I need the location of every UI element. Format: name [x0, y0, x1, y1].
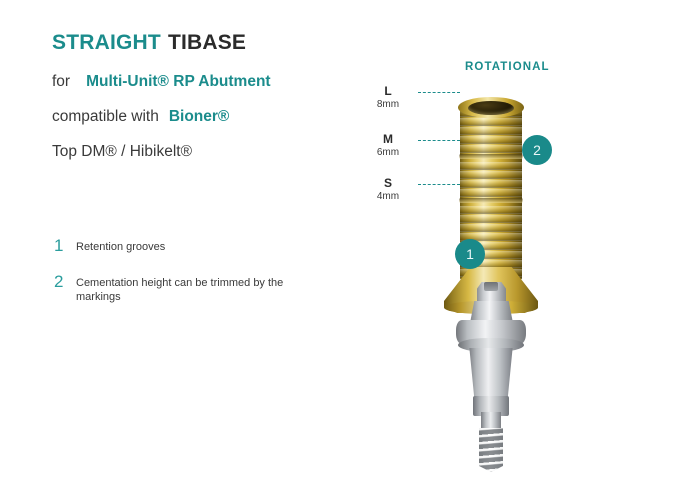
rotational-label: ROTATIONAL — [465, 61, 550, 73]
list-item: 2 Cementation height can be trimmed by t… — [54, 274, 324, 304]
size-letter: L — [370, 84, 406, 98]
product-illustration: ROTATIONAL L 8mm M 6mm S 4mm — [370, 50, 670, 480]
abutment-cone — [468, 348, 514, 400]
compatible-label: compatible with — [52, 108, 159, 125]
page-title: STRAIGHTTIBASE — [52, 28, 382, 58]
legend-text: Cementation height can be trimmed by the… — [76, 274, 324, 304]
legend-number: 1 — [54, 238, 76, 254]
screw-threads — [479, 428, 503, 472]
legend: 1 Retention grooves 2 Cementation height… — [54, 238, 324, 304]
size-letter: S — [370, 176, 406, 190]
size-marker-l: L 8mm — [370, 84, 406, 110]
badge-cementation-height[interactable]: 2 — [522, 135, 552, 165]
legend-number: 2 — [54, 274, 76, 290]
compatible-extra: Top DM® / Hibikelt® — [52, 141, 382, 163]
size-marker-m: M 6mm — [370, 132, 406, 158]
badge-retention-grooves[interactable]: 1 — [455, 239, 485, 269]
screw-slot — [484, 282, 498, 291]
text-block: STRAIGHTTIBASE forMulti-Unit® RP Abutmen… — [52, 28, 382, 163]
size-value: 4mm — [370, 191, 406, 202]
product-sheet: STRAIGHTTIBASE forMulti-Unit® RP Abutmen… — [0, 0, 700, 500]
legend-text: Retention grooves — [76, 238, 165, 254]
gold-bore-opening — [468, 101, 514, 115]
size-dash-line — [418, 92, 460, 93]
list-item: 1 Retention grooves — [54, 238, 324, 254]
size-value: 8mm — [370, 99, 406, 110]
title-straight: STRAIGHT — [52, 31, 161, 54]
size-marker-s: S 4mm — [370, 176, 406, 202]
size-value: 6mm — [370, 147, 406, 158]
compatible-value: Bioner® — [169, 108, 230, 125]
size-letter: M — [370, 132, 406, 146]
for-label: for — [52, 73, 70, 90]
multi-unit-abutment-graphic — [448, 282, 534, 482]
compatible-line: compatible withBioner® — [52, 106, 382, 128]
for-value: Multi-Unit® RP Abutment — [86, 73, 270, 90]
for-line: forMulti-Unit® RP Abutment — [52, 71, 382, 93]
title-tibase: TIBASE — [168, 31, 246, 54]
